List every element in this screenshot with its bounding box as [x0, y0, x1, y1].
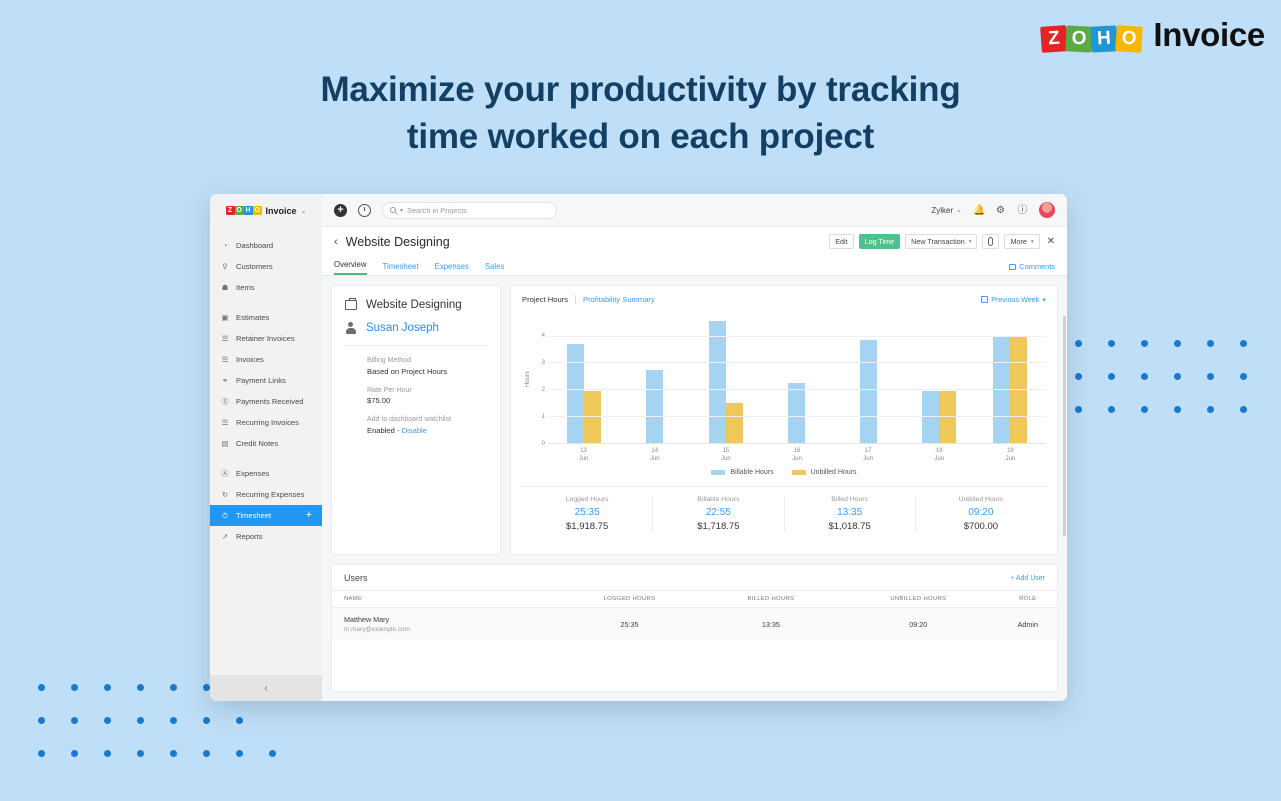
search-icon [390, 207, 396, 213]
customer-row: Susan Joseph [345, 322, 487, 334]
billing-method-label: Billing Method [367, 357, 487, 364]
sidebar-item-estimates[interactable]: ▣Estimates [210, 307, 322, 328]
col-name: NAME [332, 591, 555, 608]
field-rate-per-hour: Rate Per Hour $75.00 [367, 387, 487, 406]
quick-create-icon[interactable]: + [334, 204, 347, 217]
bar-group[interactable] [548, 314, 619, 443]
mini-o2: O [253, 206, 262, 215]
close-icon[interactable]: ✕ [1047, 236, 1055, 247]
content-area: Website Designing Susan Joseph Billing M… [322, 276, 1067, 701]
sidebar-item-label: Estimates [236, 313, 269, 322]
decorative-dot [1075, 406, 1082, 413]
bar-group[interactable] [690, 314, 761, 443]
decorative-dot [1075, 373, 1082, 380]
mini-o1: O [235, 206, 244, 215]
sidebar-item-recurring-invoices[interactable]: ☰Recurring Invoices [210, 412, 322, 433]
decorative-dot [203, 750, 210, 757]
stat-amount: $1,718.75 [657, 521, 779, 532]
watchlist-disable-link[interactable]: Disable [402, 426, 427, 435]
decorative-dot [137, 750, 144, 757]
avatar[interactable] [1039, 202, 1055, 218]
expenses-icon: Ⓐ [220, 469, 230, 479]
credit-notes-icon: ▤ [220, 439, 230, 449]
estimates-icon: ▣ [220, 313, 230, 323]
chart-tab-profitability-summary[interactable]: Profitability Summary [583, 295, 655, 304]
decorative-dot [269, 750, 276, 757]
tab-overview[interactable]: Overview [334, 260, 367, 275]
legend-label-billable: Billable Hours [730, 469, 773, 476]
y-tick-label: 4 [542, 333, 545, 339]
x-tick-label: 15Jun [690, 447, 761, 463]
decorative-dot [1141, 406, 1148, 413]
page-actions: Edit Log Time New Transaction ▾ More ▾ [829, 234, 1055, 249]
divider [345, 345, 487, 346]
stat-label: Unbilled Hours [920, 496, 1042, 503]
gridline [548, 416, 1046, 417]
log-time-button-label: Log Time [865, 237, 895, 246]
sidebar-logo[interactable]: Z O H O Invoice ⌄ [210, 194, 322, 227]
cell-logged-hours: 25:35 [555, 608, 703, 641]
user-email: m.mary@example.com [344, 626, 555, 633]
users-card: Users + Add User NAME LOGGED HOURS BILLE… [331, 564, 1058, 692]
stat-amount: $1,018.75 [789, 521, 911, 532]
decorative-dot [1108, 406, 1115, 413]
x-tick-label: 14Jun [619, 447, 690, 463]
gridline [548, 336, 1046, 337]
decorative-dot [1207, 340, 1214, 347]
sidebar-item-reports[interactable]: ↗Reports [210, 526, 322, 547]
page-headline: Maximize your productivity by tracking t… [0, 66, 1281, 160]
decorative-dot [38, 684, 45, 691]
user-name: Matthew Mary [344, 615, 555, 624]
stat-amount: $1,918.75 [526, 521, 648, 532]
legend-item-unbilled[interactable]: Unbilled Hours [792, 469, 857, 476]
week-selector-label: Previous Week [991, 295, 1039, 304]
field-billing-method: Billing Method Based on Project Hours [367, 357, 487, 376]
y-tick-label: 2 [542, 387, 545, 393]
col-billed-hours: BILLED HOURS [704, 591, 838, 608]
stat-label: Logged Hours [526, 496, 648, 503]
bar-billable[interactable] [709, 321, 726, 443]
sidebar-logo-label: Invoice [266, 206, 297, 216]
chevron-down-icon[interactable]: ▾ [400, 207, 403, 214]
customer-name[interactable]: Susan Joseph [366, 322, 439, 334]
decorative-dot [1240, 373, 1247, 380]
tab-expenses[interactable]: Expenses [435, 262, 469, 275]
sidebar: Z O H O Invoice ⌄ ◔Dashboard⚲Customers☗I… [210, 194, 322, 701]
sidebar-item-label: Dashboard [236, 241, 273, 250]
y-tick-label: 1 [542, 414, 545, 420]
stat-hours: 13:35 [789, 507, 911, 518]
project-name-row: Website Designing [345, 299, 487, 311]
briefcase-icon [345, 300, 357, 310]
payments-received-icon: Ⓢ [220, 397, 230, 407]
bar-unbilled[interactable] [939, 391, 956, 443]
x-axis-ticks: 13Jun14Jun15Jun16Jun17Jun18Jun19Jun [548, 447, 1046, 463]
dot-row [1075, 406, 1273, 439]
y-axis-title-text: Hours [525, 371, 531, 387]
chevron-down-icon: ▾ [969, 239, 972, 245]
dot-row [1075, 373, 1273, 406]
decorative-dot [137, 717, 144, 724]
sidebar-item-label: Items [236, 283, 255, 292]
decorative-dot [71, 684, 78, 691]
y-axis-ticks: 01234 [534, 314, 548, 444]
sidebar-item-expenses[interactable]: ⒶExpenses [210, 463, 322, 484]
mini-z: Z [226, 206, 235, 215]
bar-group[interactable] [975, 314, 1046, 443]
search-input[interactable]: ▾ Search in Projects [382, 202, 557, 219]
sidebar-add-timesheet-button[interactable]: + [306, 510, 312, 521]
stat-hours: 09:20 [920, 507, 1042, 518]
bar-billable[interactable] [567, 344, 584, 443]
watchlist-value: Enabled - Disable [367, 426, 487, 435]
attachment-button[interactable] [982, 234, 999, 249]
topbar-right: Zylker ⌄ 🔔 ⚙ ⓘ [931, 202, 1055, 218]
decorative-dot [1141, 340, 1148, 347]
decorative-dot [170, 750, 177, 757]
legend-label-unbilled: Unbilled Hours [811, 469, 857, 476]
bar-billable[interactable] [788, 383, 805, 443]
project-info-card: Website Designing Susan Joseph Billing M… [331, 285, 501, 555]
bell-icon[interactable]: 🔔 [973, 205, 984, 216]
sidebar-item-credit-notes[interactable]: ▤Credit Notes [210, 433, 322, 454]
decorative-dot [137, 684, 144, 691]
bar-billable[interactable] [646, 370, 663, 443]
col-logged-hours: LOGGED HOURS [555, 591, 703, 608]
sidebar-item-payment-links[interactable]: ⚭Payment Links [210, 370, 322, 391]
decorative-dot [1207, 373, 1214, 380]
bar-unbilled[interactable] [584, 391, 601, 443]
back-button[interactable]: ‹ [334, 236, 338, 248]
decorative-dot [71, 750, 78, 757]
users-title: Users [344, 573, 368, 583]
sidebar-zoho-icon: Z O H O [226, 206, 262, 215]
overview-row: Website Designing Susan Joseph Billing M… [331, 285, 1058, 555]
col-role: ROLE [999, 591, 1057, 608]
cell-unbilled-hours: 09:20 [838, 608, 998, 641]
project-name: Website Designing [366, 299, 462, 311]
recurring-expenses-icon: ↻ [220, 490, 230, 500]
sidebar-item-customers[interactable]: ⚲Customers [210, 256, 322, 277]
page-title: Website Designing [346, 235, 450, 249]
sidebar-item-timesheet[interactable]: ⏱Timesheet+ [210, 505, 322, 526]
new-transaction-label: New Transaction [911, 237, 965, 246]
dot-row [38, 750, 302, 783]
invoices-icon: ☰ [220, 355, 230, 365]
decorative-dot [1240, 406, 1247, 413]
sidebar-group-gap [210, 298, 322, 307]
chevron-down-icon: ⌄ [301, 207, 307, 215]
sidebar-item-label: Timesheet [236, 511, 271, 520]
field-watchlist: Add to dashboard watchlist Enabled - Dis… [367, 416, 487, 435]
cell-billed-hours: 13:35 [704, 608, 838, 641]
stat-amount: $700.00 [920, 521, 1042, 532]
org-name: Zylker [931, 206, 953, 215]
watchlist-label: Add to dashboard watchlist [367, 416, 487, 423]
main-area: + ▾ Search in Projects Zylker ⌄ 🔔 ⚙ ⓘ [322, 194, 1067, 701]
stat-billed-hours: Billed Hours 13:35 $1,018.75 [785, 496, 916, 532]
comment-bubble-icon [1009, 264, 1016, 270]
app-topbar: + ▾ Search in Projects Zylker ⌄ 🔔 ⚙ ⓘ [322, 194, 1067, 227]
sidebar-collapse-button[interactable]: ‹ [210, 675, 322, 701]
tab-timesheet[interactable]: Timesheet [383, 262, 419, 275]
sidebar-item-label: Credit Notes [236, 439, 278, 448]
stat-logged-hours: Logged Hours 25:35 $1,918.75 [522, 496, 653, 532]
dot-row [38, 717, 302, 750]
decorative-dot [1141, 373, 1148, 380]
decorative-dot [170, 684, 177, 691]
decorative-dot [203, 717, 210, 724]
bar-group[interactable] [904, 314, 975, 443]
sidebar-item-invoices[interactable]: ☰Invoices [210, 349, 322, 370]
x-tick-label: 19Jun [975, 447, 1046, 463]
paperclip-icon [988, 237, 993, 246]
decorative-dot [1108, 340, 1115, 347]
legend-swatch-billable [711, 470, 725, 475]
cell-role: Admin [999, 608, 1057, 641]
x-tick-label: 17Jun [833, 447, 904, 463]
chart-bars [548, 314, 1046, 444]
users-table-header-row: NAME LOGGED HOURS BILLED HOURS UNBILLED … [332, 591, 1057, 608]
chevron-down-icon: ⌄ [956, 206, 962, 214]
add-user-button[interactable]: + Add User [1010, 575, 1045, 582]
week-selector[interactable]: Previous Week ▾ [981, 295, 1046, 304]
zoho-letter-o2: O [1115, 25, 1143, 53]
sidebar-item-payments-received[interactable]: ⓈPayments Received [210, 391, 322, 412]
sidebar-item-label: Payments Received [236, 397, 304, 406]
sidebar-item-items[interactable]: ☗Items [210, 277, 322, 298]
more-button[interactable]: More ▾ [1004, 234, 1039, 249]
chevron-left-icon: ‹ [264, 683, 267, 694]
decorative-dot [71, 717, 78, 724]
sidebar-item-label: Invoices [236, 355, 264, 364]
decorative-dot [1174, 340, 1181, 347]
gridline [548, 362, 1046, 363]
users-table: NAME LOGGED HOURS BILLED HOURS UNBILLED … [332, 590, 1057, 640]
page-root: Z O H O Invoice Maximize your productivi… [0, 0, 1281, 801]
bar-unbilled[interactable] [726, 403, 743, 443]
headline-line-1: Maximize your productivity by tracking [0, 66, 1281, 113]
user-icon [345, 322, 357, 334]
sidebar-item-label: Reports [236, 532, 263, 541]
brand-product-name: Invoice [1153, 16, 1265, 54]
more-button-label: More [1010, 237, 1026, 246]
stat-unbilled-hours: Unbilled Hours 09:20 $700.00 [916, 496, 1046, 532]
y-axis-title: Hours [522, 314, 534, 444]
sidebar-item-label: Recurring Expenses [236, 490, 304, 499]
chart-header: Project Hours Profitability Summary Prev… [522, 295, 1046, 304]
decorative-dot [38, 750, 45, 757]
tab-sales[interactable]: Sales [485, 262, 505, 275]
sidebar-group-gap [210, 454, 322, 463]
vertical-scrollbar[interactable] [1063, 316, 1066, 536]
page-header: ‹ Website Designing Edit Log Time New Tr… [322, 227, 1067, 256]
hours-summary: Logged Hours 25:35 $1,918.75 Billable Ho… [522, 486, 1046, 532]
decorative-dot [1075, 340, 1082, 347]
chart-plot-area: Hours 01234 [522, 314, 1046, 444]
calendar-icon [981, 296, 988, 303]
log-time-button[interactable]: Log Time [859, 234, 901, 249]
tab-bar: Overview Timesheet Expenses Sales Commen… [322, 256, 1067, 276]
sidebar-item-label: Expenses [236, 469, 269, 478]
stat-label: Billed Hours [789, 496, 911, 503]
zoho-letter-h: H [1091, 25, 1118, 52]
stat-hours: 22:55 [657, 507, 779, 518]
sidebar-nav: ◔Dashboard⚲Customers☗Items▣Estimates☰Ret… [210, 227, 322, 675]
users-header: Users + Add User [332, 565, 1057, 590]
legend-item-billable[interactable]: Billable Hours [711, 469, 773, 476]
bar-group[interactable] [761, 314, 832, 443]
stat-label: Billable Hours [657, 496, 779, 503]
decorative-dot-grid-right [1075, 340, 1273, 439]
new-transaction-button[interactable]: New Transaction ▾ [905, 234, 977, 249]
edit-button-label: Edit [835, 237, 847, 246]
gear-icon[interactable]: ⚙ [995, 205, 1006, 216]
decorative-dot [38, 717, 45, 724]
y-tick-label: 3 [542, 360, 545, 366]
x-tick-label: 18Jun [904, 447, 975, 463]
decorative-dot [1174, 373, 1181, 380]
mini-h: H [244, 206, 253, 215]
sidebar-item-recurring-expenses[interactable]: ↻Recurring Expenses [210, 484, 322, 505]
watchlist-state: Enabled - [367, 426, 402, 435]
decorative-dot [104, 684, 111, 691]
table-row[interactable]: Matthew Mary m.mary@example.com 25:35 13… [332, 608, 1057, 641]
decorative-dot [1240, 340, 1247, 347]
sidebar-item-label: Payment Links [236, 376, 286, 385]
retainer-invoices-icon: ☰ [220, 334, 230, 344]
zoho-logo-icon: Z O H O [1041, 18, 1142, 52]
payment-links-icon: ⚭ [220, 376, 230, 386]
decorative-dot [1174, 406, 1181, 413]
org-switcher[interactable]: Zylker ⌄ [931, 206, 962, 215]
decorative-dot [170, 717, 177, 724]
chevron-down-icon: ▾ [1031, 239, 1034, 245]
decorative-dot [104, 750, 111, 757]
stat-billable-hours: Billable Hours 22:55 $1,718.75 [653, 496, 784, 532]
project-hours-chart-card: Project Hours Profitability Summary Prev… [510, 285, 1058, 555]
zoho-letter-o1: O [1066, 25, 1093, 52]
decorative-dot [236, 717, 243, 724]
sidebar-item-label: Recurring Invoices [236, 418, 299, 427]
decorative-dot [236, 750, 243, 757]
bar-billable[interactable] [922, 391, 939, 443]
bar-group[interactable] [619, 314, 690, 443]
zoho-invoice-brand: Z O H O Invoice [1041, 16, 1265, 54]
edit-button[interactable]: Edit [829, 234, 853, 249]
reports-icon: ↗ [220, 532, 230, 542]
dashboard-icon: ◔ [220, 241, 230, 251]
timesheet-icon: ⏱ [220, 511, 230, 521]
sidebar-item-retainer-invoices[interactable]: ☰Retainer Invoices [210, 328, 322, 349]
sidebar-item-dashboard[interactable]: ◔Dashboard [210, 235, 322, 256]
dot-row [1075, 340, 1273, 373]
recent-activity-icon[interactable] [358, 204, 371, 217]
gridline [548, 389, 1046, 390]
bar-group[interactable] [833, 314, 904, 443]
app-window-screenshot: Z O H O Invoice ⌄ ◔Dashboard⚲Customers☗I… [210, 194, 1067, 701]
chevron-down-icon: ▾ [1042, 295, 1046, 304]
search-placeholder: Search in Projects [407, 206, 467, 215]
rate-per-hour-label: Rate Per Hour [367, 387, 487, 394]
chart-legend: Billable Hours Unbilled Hours [522, 469, 1046, 476]
x-tick-label: 13Jun [548, 447, 619, 463]
recurring-invoices-icon: ☰ [220, 418, 230, 428]
decorative-dot [1207, 406, 1214, 413]
legend-swatch-unbilled [792, 470, 806, 475]
decorative-dot [203, 684, 210, 691]
sidebar-item-label: Retainer Invoices [236, 334, 295, 343]
cell-name: Matthew Mary m.mary@example.com [332, 608, 555, 641]
rate-per-hour-value: $75.00 [367, 396, 487, 405]
items-icon: ☗ [220, 283, 230, 293]
decorative-dot [104, 717, 111, 724]
help-icon[interactable]: ⓘ [1017, 205, 1028, 216]
chart-tab-project-hours[interactable]: Project Hours [522, 295, 568, 304]
decorative-dot [1108, 373, 1115, 380]
stat-hours: 25:35 [526, 507, 648, 518]
comments-button[interactable]: Comments [1009, 262, 1055, 275]
zoho-letter-z: Z [1040, 25, 1068, 53]
divider [575, 295, 576, 304]
comments-label: Comments [1019, 262, 1055, 271]
customers-icon: ⚲ [220, 262, 230, 272]
col-unbilled-hours: UNBILLED HOURS [838, 591, 998, 608]
sidebar-item-label: Customers [236, 262, 273, 271]
bar-billable[interactable] [860, 340, 877, 443]
billing-method-value: Based on Project Hours [367, 367, 487, 376]
y-tick-label: 0 [542, 441, 545, 447]
x-tick-label: 16Jun [761, 447, 832, 463]
headline-line-2: time worked on each project [0, 113, 1281, 160]
